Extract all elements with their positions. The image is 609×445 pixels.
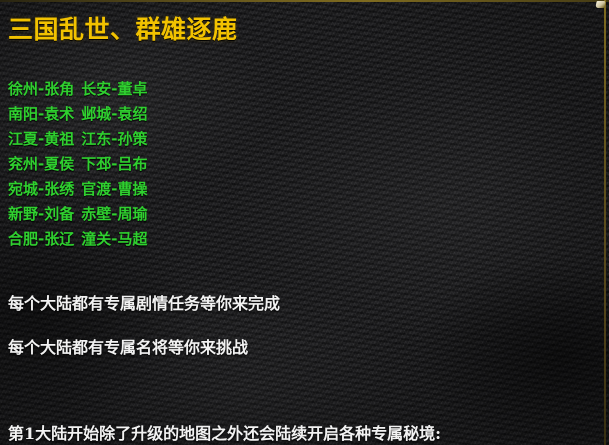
list-item: 新野-刘备赤壁-周瑜 — [8, 202, 609, 227]
list-item: 江夏-黄祖江东-孙策 — [8, 127, 609, 152]
note-line-general: 每个大陆都有专属名将等你来挑战 — [8, 334, 609, 362]
list-item: 兖州-夏侯下邳-吕布 — [8, 152, 609, 177]
game-info-page: 三国乱世、群雄逐鹿 徐州-张角长安-董卓 南阳-袁术邺城-袁绍 江夏-黄祖江东-… — [0, 0, 609, 445]
region-notes-spacer — [8, 252, 609, 274]
list-item: 合肥-张辽潼关-马超 — [8, 227, 609, 252]
region-pair-left: 徐州-张角 — [8, 80, 74, 98]
section-intro-text: 第1大陆开始除了升级的地图之外还会陆续开启各种专属秘境: — [8, 421, 609, 445]
region-pair-left: 江夏-黄祖 — [8, 130, 74, 148]
region-pair-right: 长安-董卓 — [81, 80, 147, 98]
list-item: 徐州-张角长安-董卓 — [8, 77, 609, 102]
region-pair-left: 宛城-张绣 — [8, 180, 74, 198]
title-spacer — [8, 42, 609, 77]
region-pair-right: 官渡-曹操 — [81, 180, 147, 198]
content-area: 三国乱世、群雄逐鹿 徐州-张角长安-董卓 南阳-袁术邺城-袁绍 江夏-黄祖江东-… — [0, 0, 609, 445]
notes-section-spacer — [8, 378, 609, 405]
region-pair-left: 新野-刘备 — [8, 205, 74, 223]
region-list: 徐州-张角长安-董卓 南阳-袁术邺城-袁绍 江夏-黄祖江东-孙策 兖州-夏侯下邳… — [8, 77, 609, 252]
region-pair-left: 南阳-袁术 — [8, 105, 74, 123]
region-pair-right: 下邳-吕布 — [81, 155, 147, 173]
region-pair-right: 邺城-袁绍 — [81, 105, 147, 123]
region-pair-left: 兖州-夏侯 — [8, 155, 74, 173]
region-pair-left: 合肥-张辽 — [8, 230, 74, 248]
note-line-quest: 每个大陆都有专属剧情任务等你来完成 — [8, 290, 609, 318]
list-item: 宛城-张绣官渡-曹操 — [8, 177, 609, 202]
page-title: 三国乱世、群雄逐鹿 — [8, 0, 609, 42]
list-item: 南阳-袁术邺城-袁绍 — [8, 102, 609, 127]
region-pair-right: 潼关-马超 — [81, 230, 147, 248]
region-pair-right: 江东-孙策 — [81, 130, 147, 148]
region-pair-right: 赤壁-周瑜 — [81, 205, 147, 223]
